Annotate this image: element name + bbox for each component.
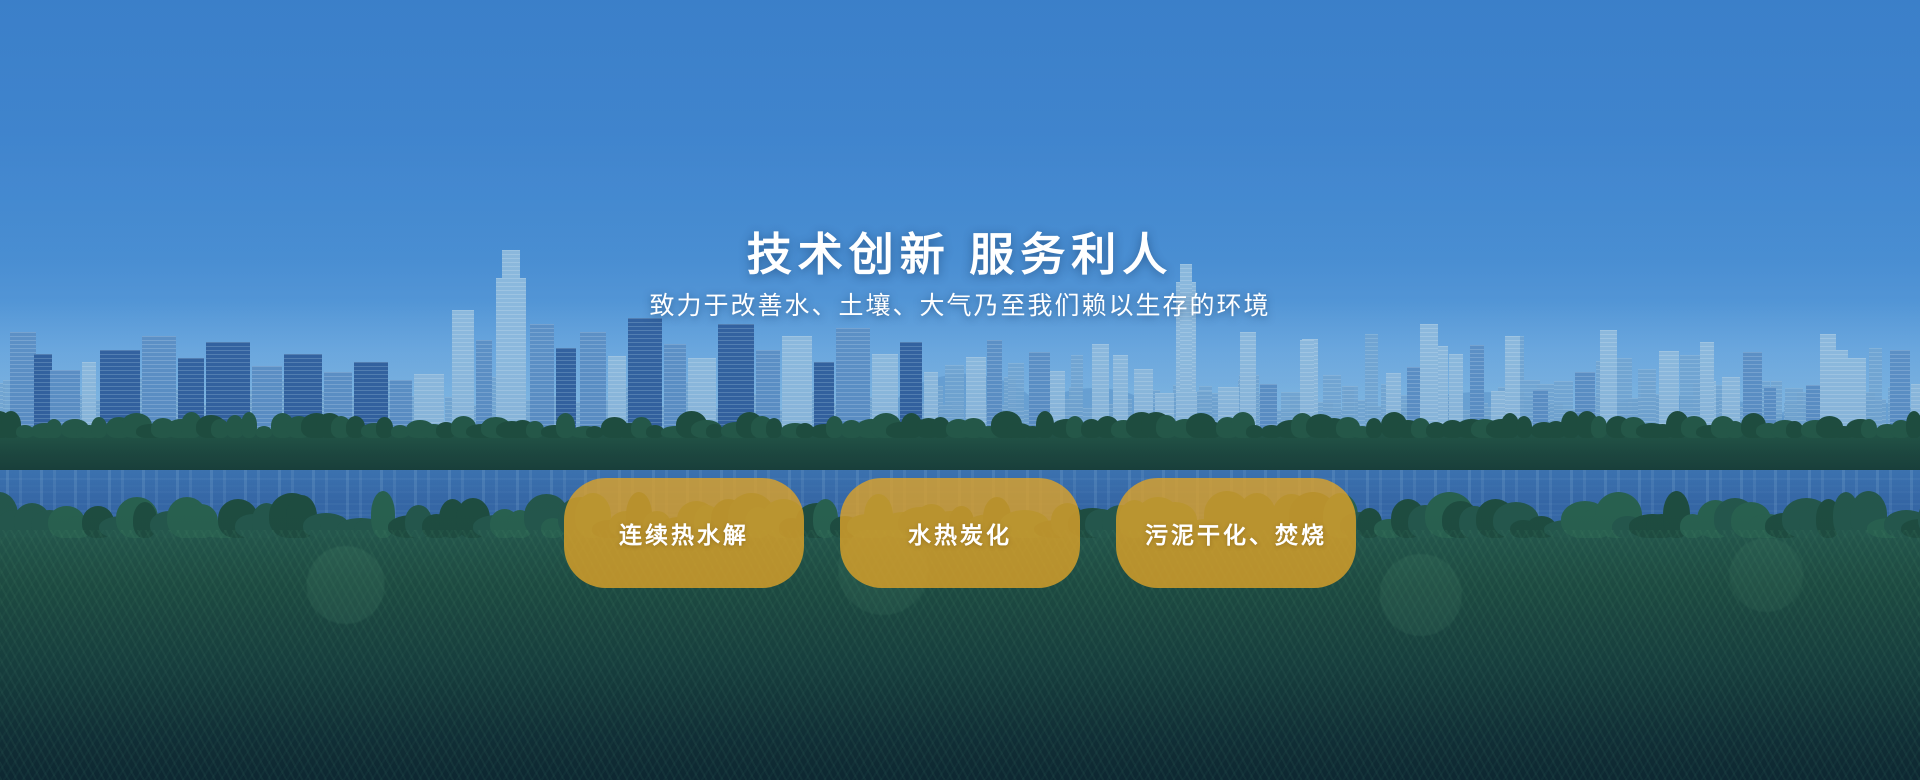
hero-banner: 技术创新 服务利人 致力于改善水、土壤、大气乃至我们赖以生存的环境 连续热水解 … — [0, 0, 1920, 780]
service-button-row: 连续热水解 水热炭化 污泥干化、焚烧 — [0, 478, 1920, 588]
hero-content: 技术创新 服务利人 致力于改善水、土壤、大气乃至我们赖以生存的环境 连续热水解 … — [0, 0, 1920, 780]
service-button-carbonization[interactable]: 水热炭化 — [840, 478, 1080, 588]
page-subtitle: 致力于改善水、土壤、大气乃至我们赖以生存的环境 — [0, 286, 1920, 322]
service-button-hydrolysis[interactable]: 连续热水解 — [564, 478, 804, 588]
page-title: 技术创新 服务利人 — [0, 218, 1920, 283]
service-button-drying-incineration[interactable]: 污泥干化、焚烧 — [1116, 478, 1356, 588]
